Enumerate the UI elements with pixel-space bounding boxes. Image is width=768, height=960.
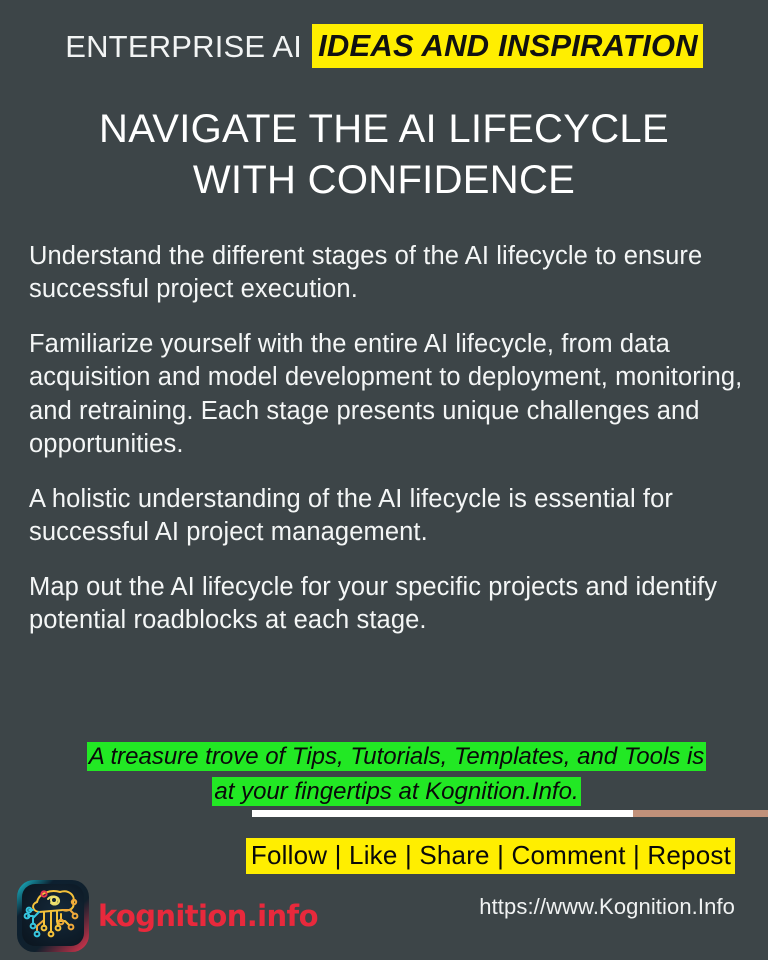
logo-wordmark: kognition.info bbox=[98, 902, 318, 931]
slide-canvas: ENTERPRISE AI IDEAS AND INSPIRATION NAVI… bbox=[0, 0, 768, 960]
divider-segment-white bbox=[252, 810, 633, 817]
footer-divider bbox=[252, 810, 768, 817]
circuit-brain-icon bbox=[17, 880, 89, 952]
headline-line-1: NAVIGATE THE AI LIFECYCLE bbox=[0, 104, 768, 155]
footer-url[interactable]: https://www.Kognition.Info bbox=[479, 896, 735, 918]
kicker-plain-text: ENTERPRISE AI bbox=[65, 31, 302, 62]
kicker-highlight-text: IDEAS AND INSPIRATION bbox=[312, 24, 703, 68]
social-cta-row: Follow | Like | Share | Comment | Repost bbox=[0, 838, 768, 874]
body-copy: Understand the different stages of the A… bbox=[29, 240, 745, 637]
divider-segment-tan bbox=[633, 810, 768, 817]
body-paragraph-3: A holistic understanding of the AI lifec… bbox=[29, 483, 745, 549]
headline-line-2: WITH CONFIDENCE bbox=[0, 155, 768, 206]
promo-line-2: at your fingertips at Kognition.Info. bbox=[212, 777, 580, 806]
social-cta-bar[interactable]: Follow | Like | Share | Comment | Repost bbox=[246, 838, 735, 874]
body-paragraph-1: Understand the different stages of the A… bbox=[29, 240, 745, 306]
body-paragraph-2: Familiarize yourself with the entire AI … bbox=[29, 328, 745, 461]
kicker-row: ENTERPRISE AI IDEAS AND INSPIRATION bbox=[0, 24, 768, 68]
circuit-brain-glyph bbox=[17, 880, 89, 952]
brand-lockup[interactable]: kognition.info bbox=[17, 880, 318, 952]
page-title: NAVIGATE THE AI LIFECYCLE WITH CONFIDENC… bbox=[0, 104, 768, 206]
promo-line-1: A treasure trove of Tips, Tutorials, Tem… bbox=[87, 742, 707, 771]
body-paragraph-4: Map out the AI lifecycle for your specif… bbox=[29, 571, 745, 637]
promo-callout: A treasure trove of Tips, Tutorials, Tem… bbox=[52, 739, 741, 809]
